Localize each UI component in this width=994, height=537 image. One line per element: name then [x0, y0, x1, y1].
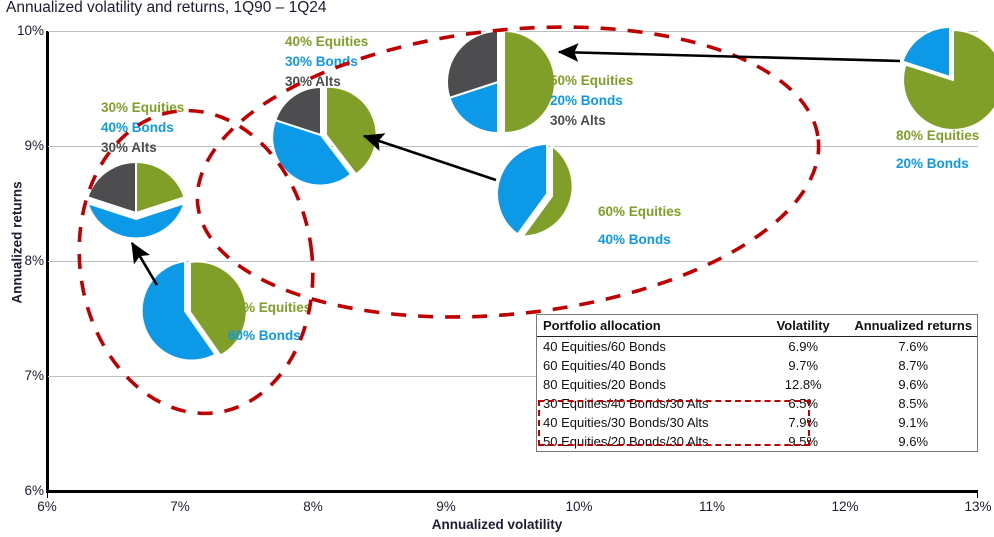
- callout-40-60: 40% Equities 60% Bonds: [228, 294, 311, 350]
- cell-allocation: 50 Equities/20 Bonds/30 Alts: [537, 432, 757, 451]
- pie-marker-60-40[interactable]: [492, 139, 602, 249]
- pie-glyph-40-60: [129, 255, 241, 367]
- x-tick-mark-6: [47, 492, 48, 498]
- cell-allocation: 80 Equities/20 Bonds: [537, 375, 757, 394]
- table-row: 40 Equities/60 Bonds 6.9% 7.6%: [537, 337, 977, 357]
- callout-line-bonds: 40% Bonds: [598, 226, 681, 254]
- pie-marker-50-20-30[interactable]: [440, 24, 556, 140]
- cell-returns: 9.6%: [849, 375, 977, 394]
- callout-line-equities: 30% Equities: [101, 98, 184, 118]
- cell-returns: 8.7%: [849, 356, 977, 375]
- cell-volatility: 9.7%: [757, 356, 849, 375]
- pie-marker-80-20[interactable]: [895, 22, 994, 132]
- pie-glyph-80-20: [895, 22, 994, 132]
- callout-line-alts: 30% Alts: [101, 138, 184, 158]
- callout-line-equities: 60% Equities: [598, 198, 681, 226]
- y-tick-7: 7%: [2, 369, 44, 383]
- callout-line-equities: 40% Equities: [228, 294, 311, 322]
- x-tick-9: 9%: [416, 500, 476, 514]
- y-tick-6: 6%: [2, 484, 44, 498]
- x-tick-mark-13: [977, 492, 978, 498]
- callout-line-alts: 30% Alts: [285, 72, 368, 92]
- cell-allocation: 60 Equities/40 Bonds: [537, 356, 757, 375]
- table-row: 60 Equities/40 Bonds 9.7% 8.7%: [537, 356, 977, 375]
- callout-50-20-30: 50% Equities 20% Bonds 30% Alts: [550, 71, 633, 131]
- th-annualized-returns: Annualized returns: [849, 315, 977, 337]
- y-axis-title: Annualized returns: [10, 133, 25, 353]
- cell-volatility: 6.5%: [757, 394, 849, 413]
- table-row: 80 Equities/20 Bonds 12.8% 9.6%: [537, 375, 977, 394]
- callout-line-equities: 80% Equities: [896, 122, 979, 150]
- th-volatility: Volatility: [757, 315, 849, 337]
- arrow-60-40-to-40-30-30: [364, 136, 496, 180]
- table-row: 50 Equities/20 Bonds/30 Alts 9.5% 9.6%: [537, 432, 977, 451]
- callout-30-40-30: 30% Equities 40% Bonds 30% Alts: [101, 98, 184, 158]
- portfolio-allocation-table: Portfolio allocation Volatility Annualiz…: [536, 314, 978, 452]
- x-tick-7: 7%: [150, 500, 210, 514]
- x-tick-8: 8%: [283, 500, 343, 514]
- pie-marker-30-40-30[interactable]: [78, 155, 194, 271]
- callout-line-bonds: 40% Bonds: [101, 118, 184, 138]
- chart-canvas: folio allocation Annualized volatility a…: [0, 0, 994, 537]
- x-tick-11: 11%: [682, 500, 742, 514]
- pie-marker-40-60[interactable]: [129, 255, 241, 367]
- x-tick-13: 13%: [948, 500, 994, 514]
- callout-line-equities: 40% Equities: [285, 32, 368, 52]
- table-header-row: Portfolio allocation Volatility Annualiz…: [537, 315, 977, 337]
- cell-allocation: 30 Equities/40 Bonds/30 Alts: [537, 394, 757, 413]
- chart-title: Annualized volatility and returns, 1Q90 …: [6, 0, 327, 17]
- table-row: 30 Equities/40 Bonds/30 Alts 6.5% 8.5%: [537, 394, 977, 413]
- callout-line-alts: 30% Alts: [550, 111, 633, 131]
- callout-line-bonds: 30% Bonds: [285, 52, 368, 72]
- callout-60-40: 60% Equities 40% Bonds: [598, 198, 681, 254]
- cell-returns: 7.6%: [849, 337, 977, 357]
- arrow-80-20-to-50-20-30: [559, 52, 900, 61]
- x-axis-title: Annualized volatility: [0, 517, 994, 532]
- pie-glyph-60-40: [492, 139, 602, 249]
- callout-80-20: 80% Equities 20% Bonds: [896, 122, 979, 178]
- x-tick-6: 6%: [17, 500, 77, 514]
- pie-marker-40-30-30[interactable]: [268, 82, 374, 188]
- pie-glyph-50-20-30: [440, 24, 556, 140]
- callout-line-bonds: 20% Bonds: [550, 91, 633, 111]
- table-row: 40 Equities/30 Bonds/30 Alts 7.9% 9.1%: [537, 413, 977, 432]
- x-tick-10: 10%: [549, 500, 609, 514]
- callout-line-equities: 50% Equities: [550, 71, 633, 91]
- cell-volatility: 6.9%: [757, 337, 849, 357]
- cell-returns: 9.6%: [849, 432, 977, 451]
- callout-line-bonds: 20% Bonds: [896, 150, 979, 178]
- pie-glyph-40-30-30: [268, 82, 374, 188]
- cell-volatility: 12.8%: [757, 375, 849, 394]
- cell-volatility: 7.9%: [757, 413, 849, 432]
- pie-glyph-30-40-30: [78, 155, 194, 271]
- callout-line-bonds: 60% Bonds: [228, 322, 311, 350]
- y-tick-10: 10%: [2, 24, 44, 38]
- x-axis-line: [46, 490, 978, 493]
- cell-volatility: 9.5%: [757, 432, 849, 451]
- cell-allocation: 40 Equities/30 Bonds/30 Alts: [537, 413, 757, 432]
- th-portfolio-allocation: Portfolio allocation: [537, 315, 757, 337]
- cell-returns: 9.1%: [849, 413, 977, 432]
- callout-40-30-30: 40% Equities 30% Bonds 30% Alts: [285, 32, 368, 92]
- cell-allocation: 40 Equities/60 Bonds: [537, 337, 757, 357]
- x-tick-12: 12%: [815, 500, 875, 514]
- cell-returns: 8.5%: [849, 394, 977, 413]
